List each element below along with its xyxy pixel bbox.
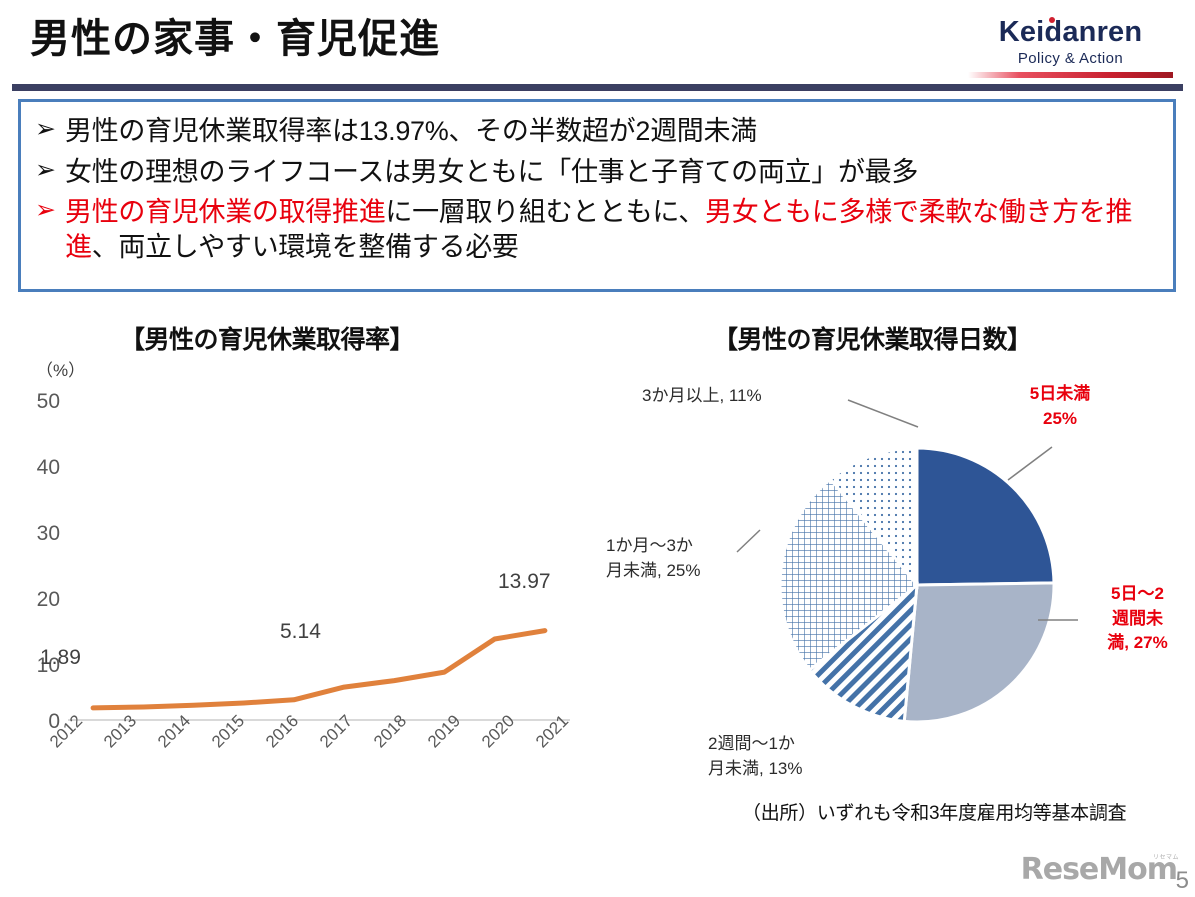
bullet-1-seg-1: 男性の育児休業取得率は13.97%、その半数超が2週間未満 [65, 116, 757, 146]
logo-tagline: Policy & Action [968, 50, 1173, 67]
logo-wordmark: Keidanren [999, 18, 1143, 47]
resemom-watermark: ReseMom [1021, 852, 1177, 887]
leave-days-pie-chart: 3か月以上, 11% 5日未満 25% 5日～2 週間未 満, 27% 1か月～… [600, 352, 1195, 822]
pie-label-under-5days-name: 5日未満 [990, 382, 1130, 407]
pie-slice-1 [917, 448, 1054, 585]
leader-line-under5days [1008, 447, 1052, 480]
pie-label-under-5days: 5日未満 25% [990, 382, 1130, 431]
left-chart-title: 【男性の育児休業取得率】 [120, 320, 414, 356]
bullet-text-2: 女性の理想のライフコースは男女ともに「仕事と子育ての両立」が最多 [65, 155, 918, 190]
leader-line-1m-3m [737, 530, 760, 552]
bullet-3-seg-4: 、両立しやすい環境を整備する必要 [92, 232, 519, 262]
pie-label-1m-3m-l2: 月未満, 25% [606, 559, 700, 584]
pie-label-5d-2w-l2: 週間未 [1090, 607, 1185, 632]
right-chart-title: 【男性の育児休業取得日数】 [713, 320, 1032, 356]
bullet-text-3: 男性の育児休業の取得推進に一層取り組むとともに、男女ともに多様で柔軟な働き方を推… [65, 195, 1173, 264]
pie-label-5d-2w-l1: 5日～2 [1090, 582, 1185, 607]
pie-label-1m-3m-l1: 1か月～3か [606, 534, 700, 559]
bullet-2-seg-1: 女性の理想のライフコースは男女ともに「仕事と子育ての両立」が最多 [65, 157, 918, 187]
leader-line-3months [848, 400, 918, 427]
logo-text: Keidanren [999, 16, 1143, 48]
pie-label-5d-2w-l3: 満, 27% [1090, 631, 1185, 656]
pie-slice-2 [904, 583, 1054, 722]
logo-dot-icon [1049, 17, 1055, 23]
bullet-item-3: ➢ 男性の育児休業の取得推進に一層取り組むとともに、男女ともに多様で柔軟な働き方… [35, 195, 1173, 264]
bullet-3-seg-2: に一層取り組むとともに、 [385, 197, 705, 227]
pie-label-2w-1m-l2: 月未満, 13% [708, 757, 802, 782]
bullet-item-1: ➢ 男性の育児休業取得率は13.97%、その半数超が2週間未満 [35, 114, 1173, 149]
logo-accent-bar [968, 72, 1173, 78]
pie-label-2w-1m-l1: 2週間～1か [708, 732, 802, 757]
page-title: 男性の家事・育児促進 [30, 17, 440, 61]
pie-label-3months-plus: 3か月以上, 11% [642, 384, 762, 409]
bullet-item-2: ➢ 女性の理想のライフコースは男女ともに「仕事と子育ての両立」が最多 [35, 155, 1173, 190]
pie-slice-group [780, 448, 1054, 722]
keidanren-logo: Keidanren Policy & Action [968, 18, 1173, 78]
title-divider [12, 84, 1183, 91]
birth-leave-rate-line-chart: （%） 50 40 30 20 10 0 1.89 5.14 13.97 201… [18, 352, 583, 792]
bullet-3-seg-1: 男性の育児休業の取得推進 [65, 197, 385, 227]
bullet-arrow-icon: ➢ [35, 195, 65, 226]
page-number: 5 [1176, 867, 1189, 895]
source-note: （出所）いずれも令和3年度雇用均等基本調査 [742, 798, 1126, 825]
bullet-text-1: 男性の育児休業取得率は13.97%、その半数超が2週間未満 [65, 114, 757, 149]
pie-label-2w-1m: 2週間～1か 月未満, 13% [708, 732, 802, 781]
data-label-2021: 13.97 [498, 570, 551, 594]
bullet-arrow-icon: ➢ [35, 155, 65, 186]
data-label-2017: 5.14 [280, 620, 321, 644]
pie-label-under-5days-pct: 25% [990, 407, 1130, 432]
pie-label-5d-2weeks: 5日～2 週間未 満, 27% [1090, 582, 1185, 656]
summary-box: ➢ 男性の育児休業取得率は13.97%、その半数超が2週間未満 ➢ 女性の理想の… [18, 99, 1176, 292]
bullet-arrow-icon: ➢ [35, 114, 65, 145]
slide-root: 男性の家事・育児促進 Keidanren Policy & Action ➢ 男… [0, 0, 1195, 897]
pie-label-1m-3m: 1か月～3か 月未満, 25% [606, 534, 700, 583]
data-label-2012: 1.89 [40, 646, 81, 670]
